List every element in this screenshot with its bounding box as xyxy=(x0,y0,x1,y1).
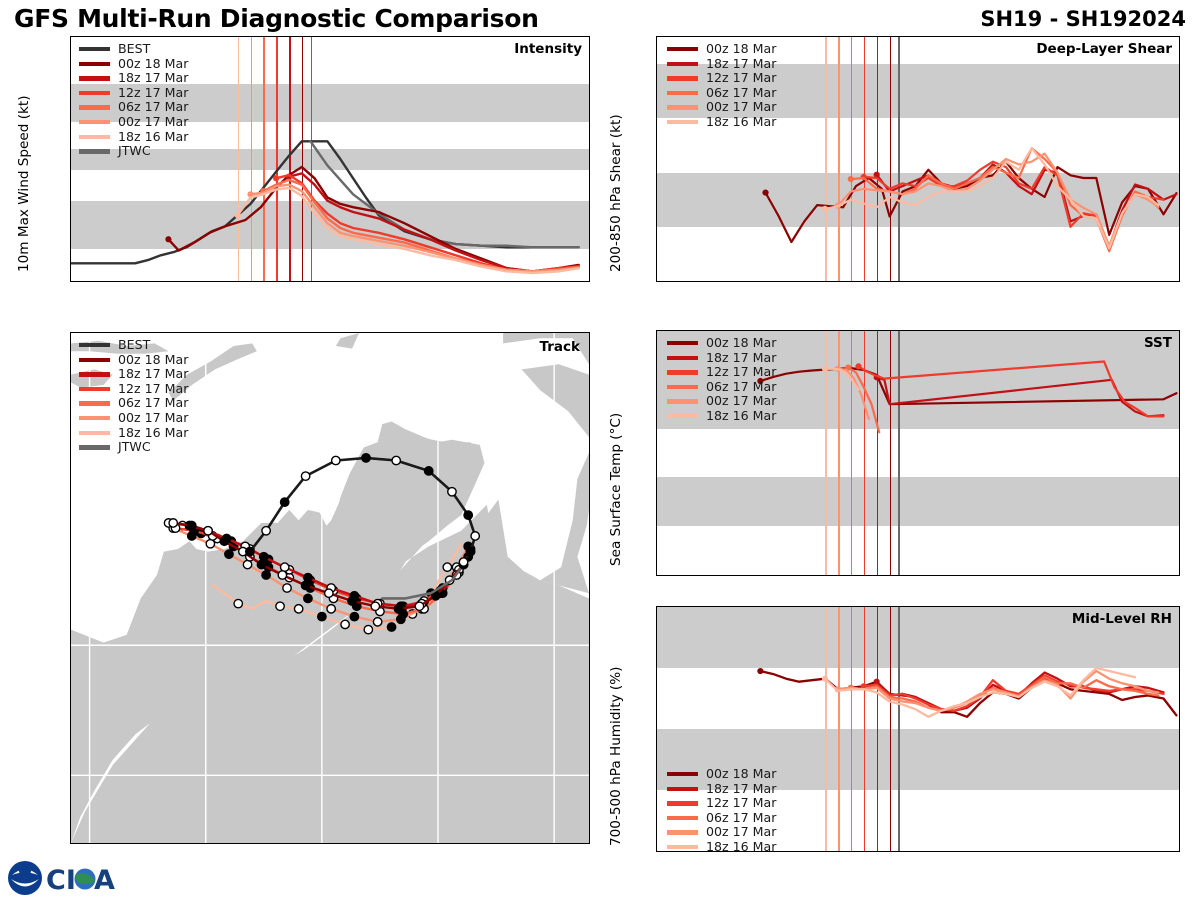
legend-row: 00z 18 Mar xyxy=(667,767,776,782)
shear-panel-label: Deep-Layer Shear xyxy=(1036,41,1172,57)
track-marker-filled xyxy=(220,537,228,545)
x-tick-mark-minor xyxy=(709,281,711,282)
legend-label: 00z 18 Mar xyxy=(118,353,188,368)
x-tick-mark xyxy=(786,281,788,282)
x-tick-mark xyxy=(97,281,99,282)
legend-label: BEST xyxy=(118,338,150,353)
x-tick-mark-minor xyxy=(1174,851,1176,852)
init-dot xyxy=(822,206,828,212)
track-marker-filled xyxy=(260,553,268,561)
legend-label: 12z 17 Mar xyxy=(118,86,188,101)
track-marker-filled xyxy=(188,521,196,529)
legend-label: 06z 17 Mar xyxy=(118,396,188,411)
legend-label: 18z 16 Mar xyxy=(118,426,188,441)
legend-row: 12z 17 Mar xyxy=(667,365,776,380)
legend-label: 18z 17 Mar xyxy=(706,351,776,366)
panel-rh: Mid-Level RH 2040608010014Mar00z15Mar00z… xyxy=(656,606,1180,852)
x-tick-mark-minor xyxy=(1070,281,1072,282)
x-tick-mark-minor xyxy=(657,851,659,852)
x-tick-mark-minor xyxy=(812,575,814,576)
legend-row: 00z 17 Mar xyxy=(79,411,188,426)
y-tick-mark xyxy=(656,606,657,608)
track-marker-open xyxy=(283,584,291,592)
x-tick-mark xyxy=(456,281,458,282)
track-marker-filled xyxy=(257,560,265,568)
y-tick-mark xyxy=(70,174,71,176)
legend-label: 12z 17 Mar xyxy=(706,365,776,380)
y-tick-mark xyxy=(656,172,657,174)
x-tick-mark xyxy=(1096,281,1098,282)
x-tick-mark xyxy=(1045,851,1047,852)
legend-row: 12z 17 Mar xyxy=(667,796,776,811)
x-tick-mark xyxy=(993,575,995,576)
y-tick-mark xyxy=(70,46,71,48)
legend-swatch xyxy=(667,399,698,403)
track-marker-open xyxy=(459,558,467,566)
x-tick-mark-minor xyxy=(812,851,814,852)
page-title: GFS Multi-Run Diagnostic Comparison xyxy=(14,4,539,33)
legend-row: 18z 16 Mar xyxy=(667,115,776,130)
x-tick-mark-minor xyxy=(1174,281,1176,282)
legend-row: 18z 16 Mar xyxy=(667,409,776,424)
x-tick-mark-minor xyxy=(1122,575,1124,576)
x-tick-mark-minor xyxy=(379,281,381,282)
y-tick-mark xyxy=(656,379,657,381)
track-marker-open xyxy=(243,560,251,568)
init-dot xyxy=(848,176,854,182)
x-tick-mark-minor xyxy=(481,281,483,282)
legend-row: 06z 17 Mar xyxy=(79,100,188,115)
shear-y-axis-label: 200-850 hPa Shear (kt) xyxy=(608,114,624,272)
legend-row: 18z 17 Mar xyxy=(667,351,776,366)
x-tick-mark-minor xyxy=(760,575,762,576)
track-marker-filled xyxy=(350,612,358,620)
legend-swatch xyxy=(667,787,698,791)
legend-swatch xyxy=(667,370,698,374)
legend-label: 00z 17 Mar xyxy=(706,394,776,409)
map-x-tick-mark xyxy=(206,843,208,844)
x-tick-mark xyxy=(251,281,253,282)
x-tick-mark xyxy=(683,575,685,576)
track-marker-filled xyxy=(464,511,472,519)
legend-swatch xyxy=(667,91,698,95)
legend-label: 18z 16 Mar xyxy=(118,130,188,145)
track-marker-open xyxy=(364,625,372,633)
legend-label: 18z 16 Mar xyxy=(706,840,776,852)
sst-panel-label: SST xyxy=(1144,335,1172,351)
init-dot xyxy=(822,366,828,372)
legend-label: 18z 17 Mar xyxy=(706,57,776,72)
legend-label: 00z 18 Mar xyxy=(706,42,776,57)
x-tick-mark xyxy=(786,575,788,576)
x-tick-mark xyxy=(838,281,840,282)
legend-label: 12z 17 Mar xyxy=(706,71,776,86)
x-tick-mark-minor xyxy=(709,575,711,576)
track-marker-filled xyxy=(348,597,356,605)
y-tick-mark xyxy=(656,330,657,332)
x-tick-mark xyxy=(1148,575,1150,576)
intensity-y-axis-label: 10m Max Wind Speed (kt) xyxy=(16,95,32,272)
x-tick-mark-minor xyxy=(657,575,659,576)
legend-row: 06z 17 Mar xyxy=(667,380,776,395)
legend-swatch xyxy=(667,845,698,849)
panel-shear: Deep-Layer Shear 01020304014Mar00z15Mar0… xyxy=(656,36,1180,282)
legend-row: 18z 16 Mar xyxy=(79,130,188,145)
svg-text:CI: CI xyxy=(46,865,76,896)
legend-row: 06z 17 Mar xyxy=(79,396,188,411)
x-tick-mark xyxy=(941,575,943,576)
x-tick-mark xyxy=(735,575,737,576)
y-tick-mark xyxy=(70,142,71,144)
x-tick-mark xyxy=(683,851,685,852)
legend-row: JTWC xyxy=(79,440,188,455)
x-tick-mark xyxy=(302,281,304,282)
shear-legend: 00z 18 Mar18z 17 Mar12z 17 Mar06z 17 Mar… xyxy=(667,42,776,130)
map-y-tick-mark xyxy=(70,775,71,777)
map-x-tick-mark xyxy=(438,843,440,844)
x-tick-mark-minor xyxy=(584,281,586,282)
x-tick-mark-minor xyxy=(864,851,866,852)
legend-swatch xyxy=(79,387,110,391)
legend-label: 00z 17 Mar xyxy=(706,825,776,840)
x-tick-mark xyxy=(735,851,737,852)
legend-swatch xyxy=(79,91,110,95)
track-marker-open xyxy=(234,599,242,607)
legend-swatch xyxy=(79,47,110,51)
x-tick-mark-minor xyxy=(276,281,278,282)
track-marker-filled xyxy=(425,467,433,475)
x-tick-mark xyxy=(735,281,737,282)
track-marker-open xyxy=(281,563,289,571)
rh-panel-label: Mid-Level RH xyxy=(1072,611,1172,627)
track-marker-open xyxy=(301,472,309,480)
x-tick-mark-minor xyxy=(967,851,969,852)
legend-swatch xyxy=(667,385,698,389)
legend-label: BEST xyxy=(118,42,150,57)
legend-swatch xyxy=(79,343,110,347)
x-tick-mark-minor xyxy=(812,281,814,282)
x-tick-mark-minor xyxy=(760,281,762,282)
track-marker-open xyxy=(169,519,177,527)
y-tick-mark xyxy=(70,78,71,80)
x-tick-mark-minor xyxy=(1070,575,1072,576)
legend-swatch xyxy=(667,105,698,109)
legend-row: 00z 17 Mar xyxy=(667,100,776,115)
x-tick-mark-minor xyxy=(760,851,762,852)
rh-legend: 00z 18 Mar18z 17 Mar12z 17 Mar06z 17 Mar… xyxy=(667,767,776,852)
x-tick-mark-minor xyxy=(915,575,917,576)
legend-label: 00z 18 Mar xyxy=(118,57,188,72)
y-tick-mark xyxy=(656,525,657,527)
legend-swatch xyxy=(79,445,110,449)
legend-swatch xyxy=(667,76,698,80)
legend-swatch xyxy=(79,149,110,153)
legend-swatch xyxy=(667,62,698,66)
x-tick-mark-minor xyxy=(967,281,969,282)
x-tick-mark xyxy=(1096,851,1098,852)
y-tick-mark xyxy=(70,206,71,208)
x-tick-mark-minor xyxy=(327,281,329,282)
map-y-tick-mark xyxy=(70,384,71,386)
panel-sst: SST 22242628303214Mar00z15Mar00z16Mar00z… xyxy=(656,330,1180,576)
x-tick-mark xyxy=(838,851,840,852)
track-marker-open xyxy=(294,605,302,613)
legend-row: 00z 18 Mar xyxy=(79,353,188,368)
track-marker-open xyxy=(392,456,400,464)
x-tick-mark-minor xyxy=(709,851,711,852)
y-tick-mark xyxy=(70,271,71,273)
track-marker-filled xyxy=(304,573,312,581)
legend-swatch xyxy=(667,816,698,820)
legend-row: 12z 17 Mar xyxy=(79,86,188,101)
init-dot xyxy=(822,676,828,682)
track-marker-open xyxy=(471,532,479,540)
legend-swatch xyxy=(667,414,698,418)
x-tick-mark xyxy=(507,281,509,282)
legend-swatch xyxy=(79,135,110,139)
cira-logo-mark: CI A xyxy=(46,865,115,896)
y-tick-mark xyxy=(656,667,657,669)
track-marker-open xyxy=(443,563,451,571)
track-marker-filled xyxy=(318,612,326,620)
track-marker-open xyxy=(371,602,379,610)
legend-label: 18z 16 Mar xyxy=(706,115,776,130)
legend-swatch xyxy=(667,801,698,805)
y-tick-mark xyxy=(656,118,657,120)
track-marker-filled xyxy=(304,594,312,602)
x-tick-mark-minor xyxy=(864,575,866,576)
legend-swatch xyxy=(79,401,110,405)
x-tick-mark xyxy=(890,851,892,852)
legend-swatch xyxy=(79,372,110,376)
x-tick-mark xyxy=(890,281,892,282)
x-tick-mark-minor xyxy=(1174,575,1176,576)
legend-label: 00z 18 Mar xyxy=(706,767,776,782)
x-tick-mark-minor xyxy=(1019,575,1021,576)
init-dot xyxy=(165,236,171,242)
track-marker-filled xyxy=(281,498,289,506)
y-tick-mark xyxy=(656,477,657,479)
track-marker-open xyxy=(341,620,349,628)
intensity-legend: BEST00z 18 Mar18z 17 Mar12z 17 Mar06z 17… xyxy=(79,42,188,159)
map-y-tick-mark xyxy=(70,514,71,516)
track-marker-filled xyxy=(301,581,309,589)
track-marker-filled xyxy=(466,547,474,555)
legend-label: 06z 17 Mar xyxy=(706,86,776,101)
legend-row: BEST xyxy=(79,42,188,57)
track-marker-open xyxy=(332,456,340,464)
intensity-panel-label: Intensity xyxy=(514,41,582,57)
x-tick-mark xyxy=(1045,575,1047,576)
series-00z-17-mar xyxy=(838,369,869,419)
y-tick-mark xyxy=(656,226,657,228)
legend-label: 12z 17 Mar xyxy=(118,382,188,397)
legend-label: 00z 17 Mar xyxy=(118,115,188,130)
x-tick-mark xyxy=(353,281,355,282)
x-tick-mark-minor xyxy=(915,281,917,282)
x-tick-mark xyxy=(890,575,892,576)
x-tick-mark xyxy=(993,851,995,852)
legend-label: 18z 17 Mar xyxy=(118,367,188,382)
legend-swatch xyxy=(79,416,110,420)
legend-label: JTWC xyxy=(118,144,151,159)
legend-label: 06z 17 Mar xyxy=(706,380,776,395)
x-tick-mark-minor xyxy=(967,575,969,576)
legend-row: BEST xyxy=(79,338,188,353)
legend-swatch xyxy=(667,120,698,124)
storm-id-title: SH19 - SH192024 xyxy=(980,7,1186,31)
x-tick-mark-minor xyxy=(657,281,659,282)
track-panel-label: Track xyxy=(540,339,580,355)
y-tick-mark xyxy=(70,110,71,112)
init-dot xyxy=(762,190,768,196)
x-tick-mark-minor xyxy=(915,851,917,852)
legend-label: JTWC xyxy=(118,440,151,455)
track-marker-open xyxy=(325,589,333,597)
legend-swatch xyxy=(79,431,110,435)
legend-swatch xyxy=(667,341,698,345)
legend-label: 06z 17 Mar xyxy=(706,811,776,826)
legend-row: 18z 16 Mar xyxy=(79,426,188,441)
legend-label: 18z 17 Mar xyxy=(118,71,188,86)
legend-label: 12z 17 Mar xyxy=(706,796,776,811)
track-marker-open xyxy=(278,571,286,579)
track-marker-open xyxy=(415,602,423,610)
legend-row: 00z 18 Mar xyxy=(667,42,776,57)
legend-swatch xyxy=(667,356,698,360)
track-marker-open xyxy=(373,618,381,626)
map-x-tick-mark xyxy=(90,843,92,844)
init-dot xyxy=(855,363,861,369)
x-tick-mark xyxy=(941,281,943,282)
legend-row: 18z 17 Mar xyxy=(79,71,188,86)
legend-row: 18z 16 Mar xyxy=(667,840,776,852)
legend-row: 00z 17 Mar xyxy=(79,115,188,130)
legend-swatch xyxy=(667,47,698,51)
legend-row: JTWC xyxy=(79,144,188,159)
land-png-coast xyxy=(522,364,589,437)
legend-row: 06z 17 Mar xyxy=(667,811,776,826)
legend-row: 18z 17 Mar xyxy=(79,367,188,382)
x-tick-mark-minor xyxy=(864,281,866,282)
svg-text:A: A xyxy=(94,865,115,896)
map-x-tick-mark xyxy=(554,843,556,844)
track-marker-filled xyxy=(262,571,270,579)
x-tick-mark xyxy=(941,851,943,852)
track-marker-filled xyxy=(246,547,254,555)
noaa-cira-logo: CI A xyxy=(6,858,128,898)
legend-swatch xyxy=(667,772,698,776)
y-tick-mark xyxy=(656,728,657,730)
track-marker-filled xyxy=(362,454,370,462)
track-marker-open xyxy=(448,488,456,496)
legend-label: 00z 17 Mar xyxy=(118,411,188,426)
legend-swatch xyxy=(79,358,110,362)
panel-track: Track 120°E125°E130°E135°E140°E10°S15°S2… xyxy=(70,332,590,844)
x-tick-mark xyxy=(404,281,406,282)
track-marker-filled xyxy=(225,550,233,558)
track-marker-filled xyxy=(387,623,395,631)
legend-row: 12z 17 Mar xyxy=(79,382,188,397)
legend-label: 00z 18 Mar xyxy=(706,336,776,351)
x-tick-mark xyxy=(199,281,201,282)
legend-row: 00z 18 Mar xyxy=(667,336,776,351)
track-marker-open xyxy=(327,605,335,613)
x-tick-mark xyxy=(838,575,840,576)
x-tick-mark xyxy=(558,281,560,282)
legend-swatch xyxy=(79,105,110,109)
x-tick-mark-minor xyxy=(1019,281,1021,282)
x-tick-mark-minor xyxy=(533,281,535,282)
legend-swatch xyxy=(79,62,110,66)
legend-swatch xyxy=(79,76,110,80)
legend-row: 18z 17 Mar xyxy=(667,782,776,797)
noaa-logo-mark xyxy=(8,861,42,895)
legend-label: 18z 17 Mar xyxy=(706,782,776,797)
legend-label: 18z 16 Mar xyxy=(706,409,776,424)
x-tick-mark-minor xyxy=(1122,281,1124,282)
legend-row: 00z 18 Mar xyxy=(79,57,188,72)
legend-row: 00z 17 Mar xyxy=(667,825,776,840)
y-tick-mark xyxy=(656,428,657,430)
x-tick-mark-minor xyxy=(1070,851,1072,852)
legend-label: 00z 17 Mar xyxy=(706,100,776,115)
legend-row: 00z 17 Mar xyxy=(667,394,776,409)
x-tick-mark-minor xyxy=(225,281,227,282)
init-dot xyxy=(273,175,279,181)
x-tick-mark-minor xyxy=(430,281,432,282)
legend-swatch xyxy=(79,120,110,124)
track-legend: BEST00z 18 Mar18z 17 Mar12z 17 Mar06z 17… xyxy=(79,338,188,455)
x-tick-mark-minor xyxy=(71,281,73,282)
map-x-tick-mark xyxy=(322,843,324,844)
y-tick-mark xyxy=(70,239,71,241)
legend-swatch xyxy=(667,830,698,834)
track-marker-open xyxy=(262,527,270,535)
x-tick-mark xyxy=(148,281,150,282)
x-tick-mark xyxy=(1148,851,1150,852)
x-tick-mark-minor xyxy=(1122,851,1124,852)
sst-y-axis-label: Sea Surface Temp (°C) xyxy=(608,413,624,566)
legend-label: 06z 17 Mar xyxy=(118,100,188,115)
rh-y-axis-label: 700-500 hPa Humidity (%) xyxy=(608,667,624,846)
map-y-tick-mark xyxy=(70,644,71,646)
x-tick-mark-minor xyxy=(1019,851,1021,852)
land-tanimbar xyxy=(336,333,359,349)
init-dot xyxy=(757,668,763,674)
init-dot xyxy=(235,212,241,218)
x-tick-mark xyxy=(993,281,995,282)
sst-legend: 00z 18 Mar18z 17 Mar12z 17 Mar06z 17 Mar… xyxy=(667,336,776,424)
x-tick-mark xyxy=(1148,281,1150,282)
x-tick-mark xyxy=(1045,281,1047,282)
x-tick-mark-minor xyxy=(174,281,176,282)
track-marker-open xyxy=(204,527,212,535)
legend-row: 06z 17 Mar xyxy=(667,86,776,101)
track-marker-open xyxy=(276,602,284,610)
x-tick-mark xyxy=(786,851,788,852)
panel-intensity: Intensity 2040608010012014016014Mar00z15… xyxy=(70,36,590,282)
y-tick-mark xyxy=(656,789,657,791)
x-tick-mark-minor xyxy=(122,281,124,282)
x-tick-mark xyxy=(1096,575,1098,576)
x-tick-mark xyxy=(683,281,685,282)
y-tick-mark xyxy=(656,63,657,65)
legend-row: 18z 17 Mar xyxy=(667,57,776,72)
series-00z-18-mar xyxy=(168,167,578,271)
legend-row: 12z 17 Mar xyxy=(667,71,776,86)
series-12z-17-mar xyxy=(859,362,1164,417)
